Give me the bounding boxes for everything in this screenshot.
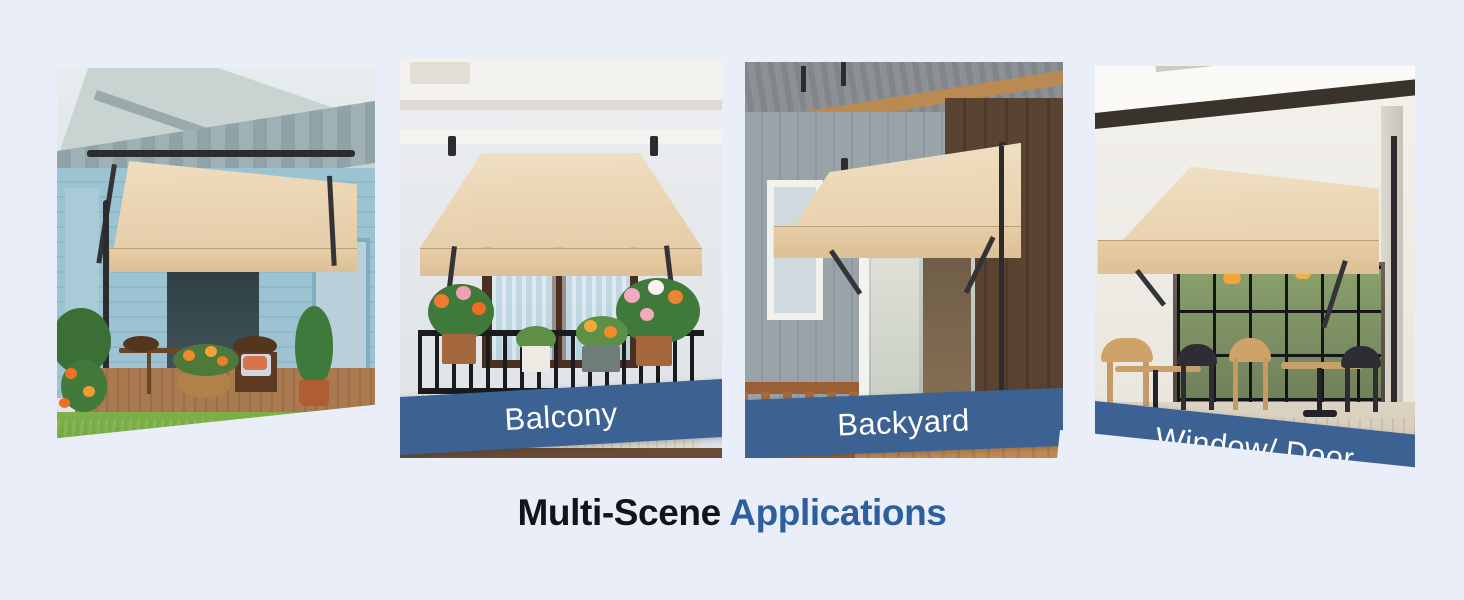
panel-label-window-door: Window/ Door	[1154, 421, 1356, 478]
scene-panel-window-door: Window/ Door	[1095, 66, 1415, 488]
scene-panel-backyard: Backyard	[745, 62, 1063, 458]
caption-lead: Multi-Scene	[518, 492, 730, 533]
scene-panel-balcony: Balcony	[400, 58, 722, 458]
scene-panel-garden: Garden	[57, 68, 375, 488]
marketing-banner: Garden	[0, 0, 1464, 600]
caption-accent: Applications	[729, 492, 946, 533]
panel-label-backyard: Backyard	[837, 402, 971, 443]
panel-label-garden: Garden	[162, 443, 271, 488]
panel-label-balcony: Balcony	[504, 396, 619, 438]
page-title: Multi-Scene Applications	[0, 492, 1464, 534]
